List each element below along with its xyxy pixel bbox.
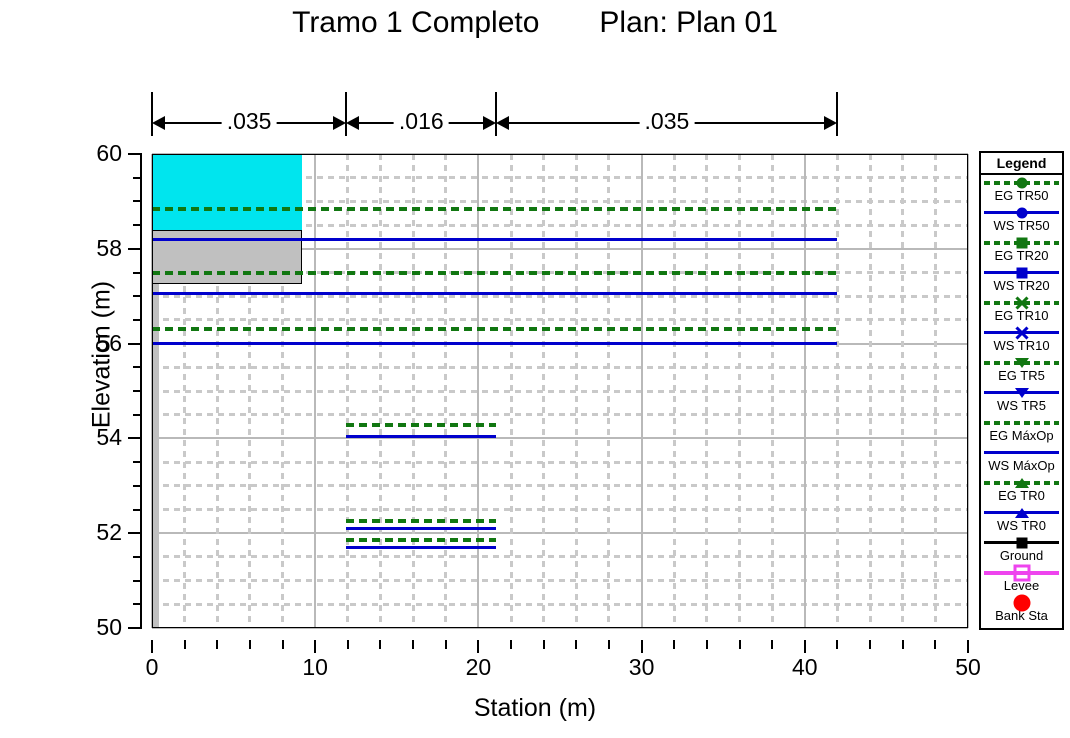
legend-label: WS MáxOp	[981, 459, 1062, 473]
legend-marker-tri-up-icon	[1015, 508, 1029, 518]
x-axis-title: Station (m)	[0, 694, 1070, 723]
x-tick	[869, 640, 871, 649]
x-tick	[249, 640, 251, 649]
legend-title: Legend	[981, 154, 1062, 175]
legend-symbol	[981, 416, 1062, 429]
y-tick-label: 60	[96, 142, 122, 165]
legend-symbol	[981, 476, 1062, 489]
x-tick	[739, 640, 741, 649]
legend-item-levee[interactable]: Levee	[981, 566, 1062, 596]
legend-marker-square-icon	[1016, 267, 1027, 278]
legend-label: WS TR50	[981, 219, 1062, 233]
x-tick	[477, 640, 479, 653]
x-tick	[543, 640, 545, 649]
legend-marker-tri-dn-icon	[1015, 358, 1029, 368]
x-tick	[673, 640, 675, 649]
x-tick	[836, 640, 838, 649]
x-tick	[934, 640, 936, 649]
manning-arrowhead-left	[496, 116, 509, 130]
legend-label: WS TR5	[981, 399, 1062, 413]
legend-symbol	[981, 296, 1062, 309]
x-tick-label: 20	[448, 656, 508, 679]
legend-marker-tri-dn-icon	[1015, 388, 1029, 398]
legend-symbol	[981, 506, 1062, 519]
y-tick-label: 52	[96, 521, 122, 544]
legend-symbol	[981, 176, 1062, 189]
legend-label: Levee	[981, 579, 1062, 593]
legend-label: EG TR20	[981, 249, 1062, 263]
x-tick	[347, 640, 349, 649]
manning-arrowhead-right	[483, 116, 496, 130]
x-tick	[314, 640, 316, 653]
legend-line	[984, 421, 1059, 425]
legend-label: EG TR5	[981, 369, 1062, 383]
x-tick	[379, 640, 381, 649]
legend-marker-tri-up-icon	[1015, 478, 1029, 488]
legend-item-ground[interactable]: Ground	[981, 536, 1062, 566]
manning-n-bar: .035.016.035	[152, 92, 968, 148]
x-tick	[706, 640, 708, 649]
legend-marker-bigcircle-icon	[1013, 594, 1030, 611]
y-tick-label: 50	[96, 616, 122, 639]
legend-item-eg-tr20[interactable]: EG TR20	[981, 236, 1062, 266]
x-tick	[282, 640, 284, 649]
legend-item-ws-tr0[interactable]: WS TR0	[981, 506, 1062, 536]
legend-label: EG TR10	[981, 309, 1062, 323]
legend-marker-circle-icon	[1016, 177, 1027, 188]
legend-line	[984, 451, 1059, 454]
legend-label: WS TR10	[981, 339, 1062, 353]
legend-label: Ground	[981, 549, 1062, 563]
manning-arrowhead-right	[824, 116, 837, 130]
x-tick-label: 40	[775, 656, 835, 679]
legend-symbol	[981, 206, 1062, 219]
y-axis-title: Elevation (m)	[88, 235, 117, 475]
x-tick	[967, 640, 969, 653]
x-tick-label: 10	[285, 656, 345, 679]
legend-label: WS TR0	[981, 519, 1062, 533]
legend-label: Bank Sta	[981, 609, 1062, 623]
legend-symbol	[981, 266, 1062, 279]
legend-marker-levee-icon	[1013, 564, 1030, 581]
legend-item-eg-máxop[interactable]: EG MáxOp	[981, 416, 1062, 446]
legend-label: EG MáxOp	[981, 429, 1062, 443]
legend-item-ws-máxop[interactable]: WS MáxOp	[981, 446, 1062, 476]
legend-item-ws-tr20[interactable]: WS TR20	[981, 266, 1062, 296]
x-tick	[151, 640, 153, 653]
chart-title: Tramo 1 CompletoPlan: Plan 01	[0, 6, 1070, 40]
x-tick	[608, 640, 610, 649]
x-tick	[771, 640, 773, 649]
legend: Legend EG TR50WS TR50EG TR20WS TR20EG TR…	[979, 151, 1064, 630]
legend-item-eg-tr50[interactable]: EG TR50	[981, 176, 1062, 206]
legend-symbol	[981, 596, 1062, 609]
legend-symbol	[981, 446, 1062, 459]
title-main: Tramo 1 Completo	[292, 6, 539, 40]
legend-item-eg-tr0[interactable]: EG TR0	[981, 476, 1062, 506]
legend-item-eg-tr10[interactable]: EG TR10	[981, 296, 1062, 326]
legend-marker-square-icon	[1016, 537, 1027, 548]
x-tick	[641, 640, 643, 653]
x-tick	[216, 640, 218, 649]
x-tick	[184, 640, 186, 649]
manning-arrowhead-left	[152, 116, 165, 130]
x-tick-label: 0	[122, 656, 182, 679]
y-axis-line	[140, 154, 142, 628]
legend-items: EG TR50WS TR50EG TR20WS TR20EG TR10WS TR…	[981, 176, 1062, 626]
legend-symbol	[981, 236, 1062, 249]
legend-item-ws-tr50[interactable]: WS TR50	[981, 206, 1062, 236]
manning-arrowhead-right	[333, 116, 346, 130]
title-plan: Plan: Plan 01	[599, 6, 777, 40]
legend-label: EG TR0	[981, 489, 1062, 503]
manning-n-value: .016	[394, 110, 449, 133]
legend-item-bank-sta[interactable]: Bank Sta	[981, 596, 1062, 626]
plot-border	[152, 154, 968, 628]
legend-label: WS TR20	[981, 279, 1062, 293]
x-tick	[902, 640, 904, 649]
x-tick	[412, 640, 414, 649]
x-tick-label: 30	[612, 656, 672, 679]
manning-n-value: .035	[640, 110, 695, 133]
legend-symbol	[981, 386, 1062, 399]
x-tick-label: 50	[938, 656, 998, 679]
legend-item-ws-tr5[interactable]: WS TR5	[981, 386, 1062, 416]
legend-marker-cross-icon	[1015, 326, 1028, 339]
legend-symbol	[981, 536, 1062, 549]
legend-symbol	[981, 356, 1062, 369]
legend-label: EG TR50	[981, 189, 1062, 203]
manning-n-value: .035	[222, 110, 277, 133]
legend-symbol	[981, 566, 1062, 579]
legend-symbol	[981, 326, 1062, 339]
x-tick	[510, 640, 512, 649]
manning-arrowhead-left	[346, 116, 359, 130]
legend-marker-square-icon	[1016, 237, 1027, 248]
x-tick	[804, 640, 806, 653]
legend-item-ws-tr10[interactable]: WS TR10	[981, 326, 1062, 356]
x-axis-labels: 01020304050	[152, 640, 968, 670]
legend-marker-cross-icon	[1015, 296, 1028, 309]
legend-item-eg-tr5[interactable]: EG TR5	[981, 356, 1062, 386]
x-tick	[575, 640, 577, 649]
legend-marker-circle-icon	[1016, 207, 1027, 218]
cross-section-plot	[152, 154, 968, 628]
x-tick	[445, 640, 447, 649]
